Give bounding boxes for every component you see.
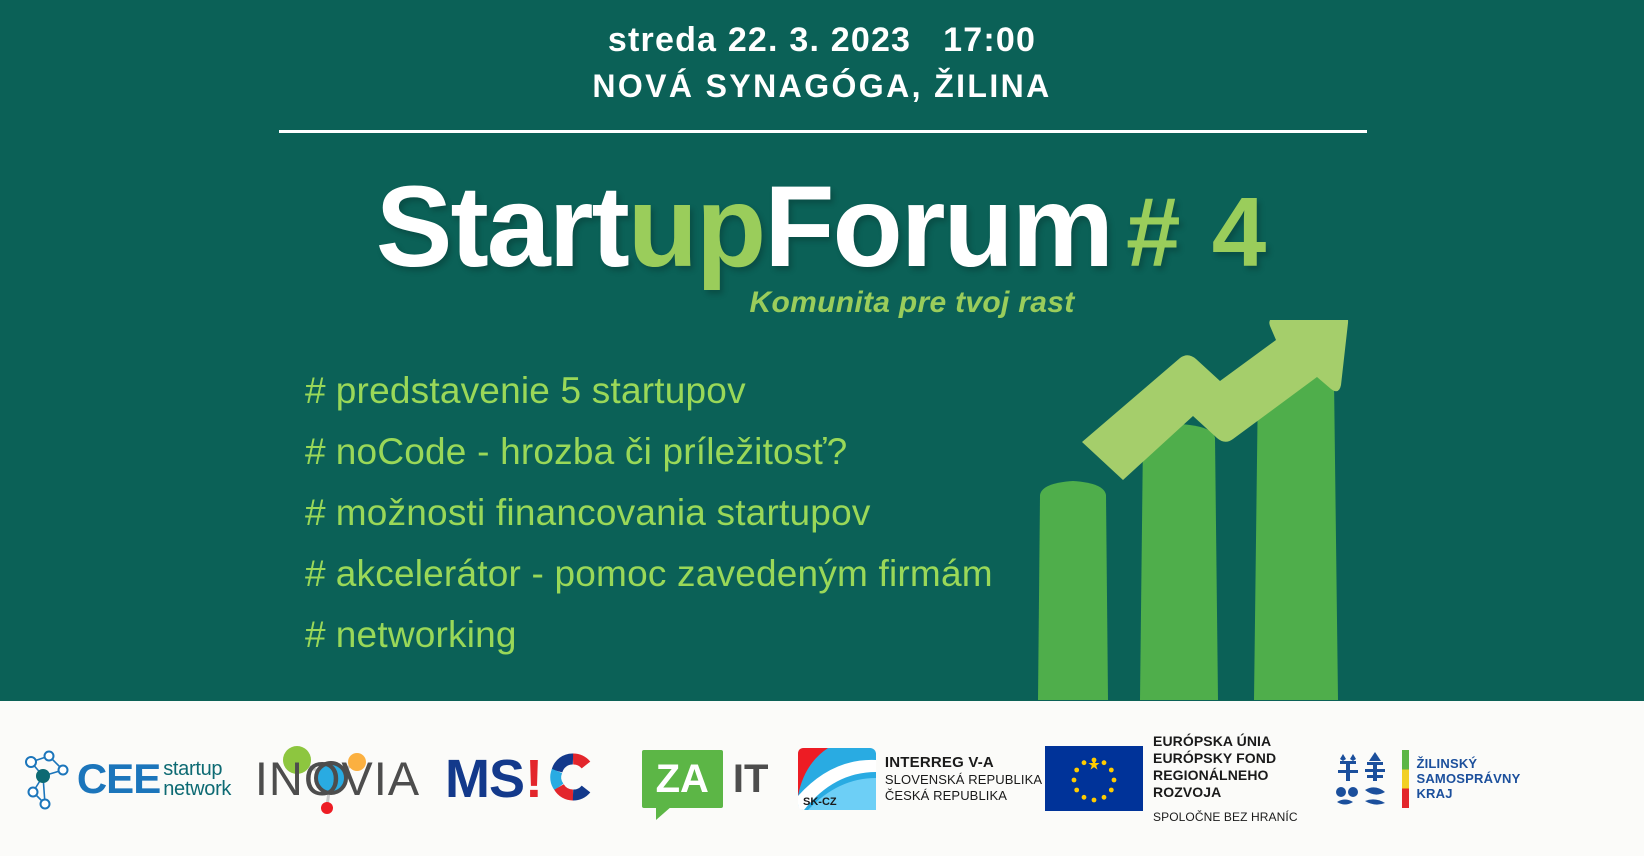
title-part-start: Start: [376, 163, 628, 291]
hash-marker: #: [305, 431, 326, 472]
eu-subtitle: SPOLOČNE BEZ HRANÍC: [1153, 810, 1325, 824]
zsk-line1: ŽILINSKÝ: [1416, 756, 1520, 771]
tagline: Komunita pre tvoj rast: [750, 286, 1075, 320]
logo-inovia[interactable]: INOVIA: [250, 701, 425, 856]
za-speech-bubble-icon: ZA: [642, 750, 723, 808]
zsk-line3: KRAJ: [1416, 786, 1520, 801]
list-item-label: akcelerátor - pomoc zavedeným firmám: [336, 553, 993, 594]
growth-chart-svg: [1030, 320, 1390, 700]
msic-part1: MS: [445, 752, 524, 806]
eu-stars-svg: [1045, 746, 1143, 811]
interreg-flag-shape: SK-CZ: [798, 748, 876, 810]
list-item: #akcelerátor - pomoc zavedeným firmám: [305, 543, 1105, 604]
interreg-line3: ČESKÁ REPUBLIKA: [885, 788, 1042, 804]
zsk-color-bar: [1402, 750, 1409, 808]
cee-main-label: CEE: [77, 758, 160, 800]
event-venue: NOVÁ SYNAGÓGA, ŽILINA: [0, 64, 1644, 108]
logo-cee-startup-network[interactable]: CEE startup network: [0, 701, 250, 856]
logo-za-it[interactable]: ZA IT: [615, 701, 795, 856]
msic-exclamation: !: [525, 752, 542, 806]
sponsor-logo-strip: CEE startup network INOVIA: [0, 701, 1644, 856]
hash-marker: #: [305, 370, 326, 411]
logo-european-union[interactable]: EURÓPSKA ÚNIA EURÓPSKY FOND REGIONÁLNEHO…: [1045, 701, 1325, 856]
page-title: StartupForum# 4: [0, 168, 1644, 291]
hash-marker: #: [305, 614, 326, 655]
bar-2: [1140, 424, 1218, 700]
eu-line2: EURÓPSKY FOND: [1153, 750, 1325, 767]
eu-flag-icon: [1045, 746, 1143, 811]
list-item: #predstavenie 5 startupov: [305, 360, 1105, 421]
msic-wordmark: MS !: [445, 752, 595, 806]
topic-list: #predstavenie 5 startupov #noCode - hroz…: [305, 360, 1105, 665]
cee-sub-label: startup network: [163, 759, 231, 799]
bar-1: [1038, 481, 1108, 700]
list-item: #možnosti financovania startupov: [305, 482, 1105, 543]
logo-interreg-sk-cz[interactable]: SK-CZ INTERREG V-A SLOVENSKÁ REPUBLIKA Č…: [795, 701, 1045, 856]
cee-sub-line1: startup: [163, 759, 231, 779]
title-block: StartupForum# 4: [0, 168, 1644, 291]
interreg-mark-label-top: SK-CZ: [803, 796, 837, 808]
list-item-label: možnosti financovania startupov: [336, 492, 871, 533]
hash-marker: #: [305, 553, 326, 594]
interreg-line2: SLOVENSKÁ REPUBLIKA: [885, 772, 1042, 788]
poster-header: streda 22. 3. 2023 17:00 NOVÁ SYNAGÓGA, …: [0, 18, 1644, 108]
zsk-line2: SAMOSPRÁVNY: [1416, 771, 1520, 786]
title-part-up: up: [628, 163, 765, 291]
cee-sub-line2: network: [163, 779, 231, 799]
list-item-label: predstavenie 5 startupov: [336, 370, 746, 411]
list-item-label: networking: [336, 614, 517, 655]
growth-chart-icon: [1030, 320, 1390, 700]
eu-line3: REGIONÁLNEHO ROZVOJA: [1153, 767, 1325, 801]
event-poster: streda 22. 3. 2023 17:00 NOVÁ SYNAGÓGA, …: [0, 0, 1644, 856]
interreg-mark-icon: SK-CZ: [798, 748, 876, 810]
inovia-wordmark: INOVIA: [255, 755, 420, 802]
hash-marker: #: [305, 492, 326, 533]
tagline-wrap: Komunita pre tvoj rast: [0, 286, 1644, 320]
title-edition: # 4: [1126, 177, 1268, 287]
zsk-coat-of-arms-icon: [1329, 748, 1395, 810]
logo-msic[interactable]: MS !: [425, 701, 615, 856]
msic-c-arc-icon: [545, 753, 595, 805]
interreg-line1: INTERREG V-A: [885, 754, 1042, 772]
eu-line1: EURÓPSKA ÚNIA: [1153, 733, 1325, 750]
cee-wordmark: CEE startup network: [77, 758, 231, 800]
network-nodes-icon: [19, 748, 71, 810]
header-divider: [279, 130, 1367, 133]
it-label: IT: [733, 759, 769, 799]
eu-text-block: EURÓPSKA ÚNIA EURÓPSKY FOND REGIONÁLNEHO…: [1153, 733, 1325, 824]
list-item: #noCode - hrozba či príležitosť?: [305, 421, 1105, 482]
za-label: ZA: [656, 757, 709, 801]
zsk-text-block: ŽILINSKÝ SAMOSPRÁVNY KRAJ: [1416, 756, 1520, 801]
bar-3: [1254, 366, 1338, 700]
event-datetime: streda 22. 3. 2023 17:00: [0, 18, 1644, 62]
zsk-arms-svg: [1329, 748, 1395, 810]
title-part-forum: Forum: [764, 163, 1112, 291]
list-item: #networking: [305, 604, 1105, 665]
logo-zilinsky-kraj[interactable]: ŽILINSKÝ SAMOSPRÁVNY KRAJ: [1325, 701, 1525, 856]
list-item-label: noCode - hrozba či príležitosť?: [336, 431, 848, 472]
interreg-text-block: INTERREG V-A SLOVENSKÁ REPUBLIKA ČESKÁ R…: [885, 754, 1042, 804]
